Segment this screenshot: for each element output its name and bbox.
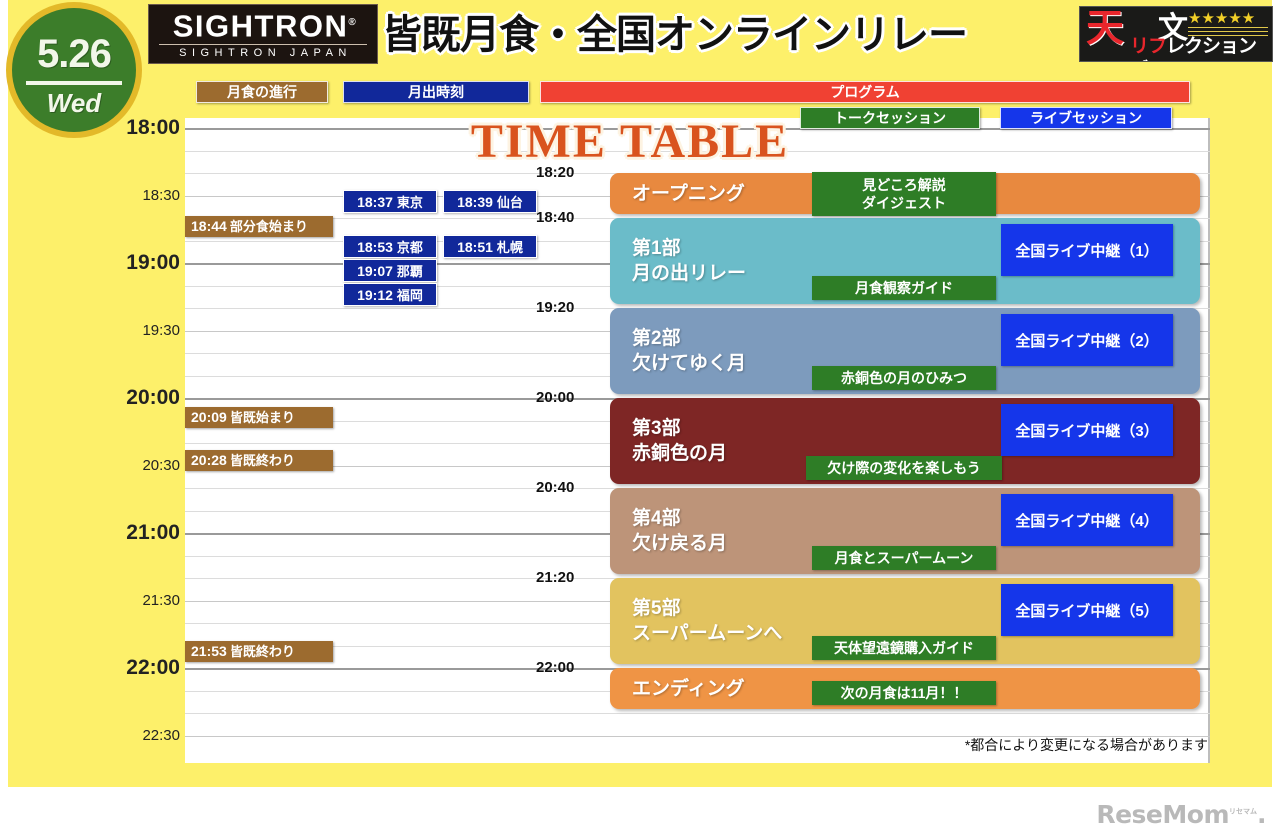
moonrise-time: 19:12 bbox=[357, 287, 393, 303]
program-start-time-label: 19:20 bbox=[536, 300, 574, 315]
moonrise-city: 東京 bbox=[397, 195, 423, 210]
program-start-time-label: 22:00 bbox=[536, 660, 574, 675]
registered-trademark-icon: ® bbox=[348, 17, 357, 28]
poster-page: 5.26 Wed SIGHTRON® SIGHTRON JAPAN 皆既月食・全… bbox=[0, 0, 1280, 835]
poster-header: 5.26 Wed SIGHTRON® SIGHTRON JAPAN 皆既月食・全… bbox=[0, 0, 1280, 70]
eclipse-event-name: 皆既終わり bbox=[230, 453, 295, 468]
live-session-block[interactable]: 全国ライブ中継（2） bbox=[1001, 314, 1173, 366]
time-axis-label: 18:30 bbox=[110, 188, 180, 203]
live-session-block[interactable]: 全国ライブ中継（3） bbox=[1001, 404, 1173, 456]
talk-session-block[interactable]: 月食とスーパームーン bbox=[812, 546, 996, 570]
time-axis-label: 22:30 bbox=[110, 728, 180, 743]
sightron-logo-divider bbox=[159, 44, 367, 45]
moonrise-time: 18:53 bbox=[357, 239, 393, 255]
time-axis-label: 19:30 bbox=[110, 323, 180, 338]
time-axis-label: 21:30 bbox=[110, 593, 180, 608]
moonrise-time-badge: 19:12福岡 bbox=[343, 283, 437, 306]
legend-item-live-session: ライブセッション bbox=[1000, 107, 1172, 129]
live-session-block[interactable]: 全国ライブ中継（5） bbox=[1001, 584, 1173, 636]
legend-item-talk-session: トークセッション bbox=[800, 107, 980, 129]
moonrise-time-badge: 18:39仙台 bbox=[443, 190, 537, 213]
moonrise-time: 18:51 bbox=[457, 239, 493, 255]
legend-item-eclipse-progress: 月食の進行 bbox=[196, 81, 328, 103]
program-block-title: 第4部 欠け戻る月 bbox=[632, 506, 727, 556]
legend-item-program: プログラム bbox=[540, 81, 1190, 103]
chart-footnote: *都合により変更になる場合があります bbox=[965, 735, 1208, 755]
program-block-title: 第5部 スーパームーンへ bbox=[632, 596, 782, 646]
sightron-logo-text: SIGHTRON bbox=[173, 8, 349, 43]
program-block-title: 第3部 赤銅色の月 bbox=[632, 416, 727, 466]
live-session-block[interactable]: 全国ライブ中継（4） bbox=[1001, 494, 1173, 546]
tenmon-logo-kanji-ten: 天 bbox=[1086, 9, 1122, 49]
program-start-time-label: 18:40 bbox=[536, 210, 574, 225]
eclipse-event-time: 20:09 bbox=[191, 409, 227, 425]
talk-session-block[interactable]: 見どころ解説 ダイジェスト bbox=[812, 172, 996, 216]
eclipse-event-badge: 20:09皆既始まり bbox=[185, 407, 333, 428]
eclipse-event-time: 18:44 bbox=[191, 218, 227, 234]
time-axis-label: 21:00 bbox=[110, 522, 180, 543]
moonrise-time: 18:39 bbox=[457, 194, 493, 210]
program-block-title: 第2部 欠けてゆく月 bbox=[632, 326, 746, 376]
program-start-time-label: 21:20 bbox=[536, 570, 574, 585]
program-start-time-label: 20:00 bbox=[536, 390, 574, 405]
moonrise-city: 福岡 bbox=[397, 288, 423, 303]
moonrise-time-badge: 19:07那覇 bbox=[343, 259, 437, 282]
eclipse-event-time: 20:28 bbox=[191, 452, 227, 468]
eclipse-event-name: 部分食始まり bbox=[230, 219, 308, 234]
program-start-time-label: 20:40 bbox=[536, 480, 574, 495]
time-axis-label: 20:30 bbox=[110, 458, 180, 473]
date-divider bbox=[26, 81, 122, 85]
watermark-superscript: リセマム bbox=[1229, 808, 1257, 816]
tenmon-logo-katakana-red: リフ bbox=[1130, 36, 1166, 57]
eclipse-event-badge: 18:44部分食始まり bbox=[185, 216, 333, 237]
tenmon-logo-katakana: リフレクションズ bbox=[1130, 35, 1272, 62]
program-block-title: オープニング bbox=[632, 181, 745, 206]
time-axis-label: 20:00 bbox=[110, 387, 180, 408]
moonrise-city: 仙台 bbox=[497, 195, 523, 210]
moonrise-city: 那覇 bbox=[397, 264, 423, 279]
gridline-minor bbox=[185, 713, 1210, 714]
page-title: 皆既月食・全国オンラインリレー bbox=[382, 6, 1072, 64]
talk-session-block[interactable]: 赤銅色の月のひみつ bbox=[812, 366, 996, 390]
talk-session-block[interactable]: 次の月食は11月！！ bbox=[812, 681, 996, 705]
eclipse-event-name: 皆既始まり bbox=[230, 410, 295, 425]
eclipse-event-time: 21:53 bbox=[191, 643, 227, 659]
moonrise-time-badge: 18:53京都 bbox=[343, 235, 437, 258]
time-axis-label: 19:00 bbox=[110, 252, 180, 273]
sightron-logo-wordmark: SIGHTRON® bbox=[149, 5, 377, 44]
talk-session-block[interactable]: 天体望遠鏡購入ガイド bbox=[812, 636, 996, 660]
date-dayofweek: Wed bbox=[12, 90, 136, 116]
moonrise-city: 札幌 bbox=[497, 240, 523, 255]
resemom-watermark: ReseMomリセマム. bbox=[1096, 800, 1266, 829]
legend-item-moonrise-time: 月出時刻 bbox=[343, 81, 529, 103]
program-block-title: エンディング bbox=[632, 676, 745, 701]
eclipse-event-name: 皆既終わり bbox=[230, 644, 295, 659]
bottom-white-band bbox=[0, 787, 1280, 835]
talk-session-block[interactable]: 月食観察ガイド bbox=[812, 276, 996, 300]
date-badge: 5.26 Wed bbox=[6, 2, 142, 138]
watermark-text: ReseMom bbox=[1096, 800, 1229, 829]
timetable-chart: 18:0018:3019:0019:3020:0020:3021:0021:30… bbox=[110, 118, 1210, 763]
program-block-title: 第1部 月の出リレー bbox=[632, 236, 746, 286]
tenmon-reflections-logo: 天 文 ★★★★★ リフレクションズ bbox=[1079, 6, 1273, 62]
stars-icon: ★★★★★ bbox=[1188, 9, 1255, 27]
sightron-logo-subtext: SIGHTRON JAPAN bbox=[149, 47, 377, 59]
date-number: 5.26 bbox=[12, 34, 136, 74]
moonrise-city: 京都 bbox=[397, 240, 423, 255]
sightron-logo: SIGHTRON® SIGHTRON JAPAN bbox=[148, 4, 378, 64]
time-axis-label: 22:00 bbox=[110, 657, 180, 678]
eclipse-event-badge: 21:53皆既終わり bbox=[185, 641, 333, 662]
live-session-block[interactable]: 全国ライブ中継（1） bbox=[1001, 224, 1173, 276]
moonrise-time-badge: 18:37東京 bbox=[343, 190, 437, 213]
moonrise-time: 19:07 bbox=[357, 263, 393, 279]
moonrise-time: 18:37 bbox=[357, 194, 393, 210]
eclipse-event-badge: 20:28皆既終わり bbox=[185, 450, 333, 471]
talk-session-block[interactable]: 欠け際の変化を楽しもう bbox=[806, 456, 1002, 480]
moonrise-time-badge: 18:51札幌 bbox=[443, 235, 537, 258]
